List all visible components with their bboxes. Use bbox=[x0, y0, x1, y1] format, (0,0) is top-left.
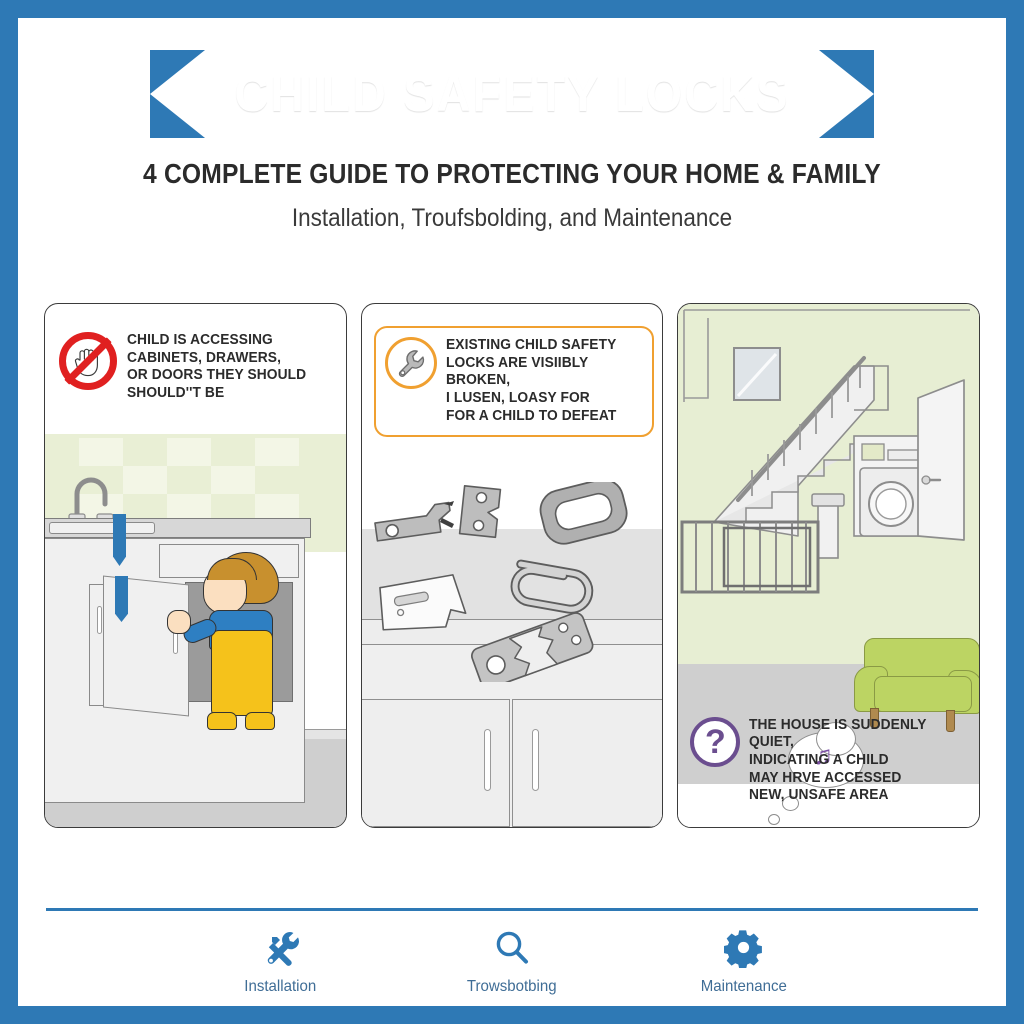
pointer-ribbon-upper bbox=[113, 514, 126, 566]
door-handle-left bbox=[484, 729, 491, 791]
footer-label: Trowsbotbing bbox=[467, 978, 557, 996]
child-overalls bbox=[211, 630, 273, 716]
panel-quiet-house: ♫ ? THE HOUSE IS SUDDENLY QUIET, INDICAT… bbox=[677, 303, 980, 828]
panel-3-callout-text: THE HOUSE IS SUDDENLY QUIET, INDICATING … bbox=[749, 717, 951, 805]
child-shoe-right bbox=[245, 712, 275, 730]
callout-line: NEW, UNSAFE AREA bbox=[749, 787, 951, 805]
question-mark-icon: ? bbox=[690, 717, 740, 767]
tagline: Installation, Troufsbolding, and Mainten… bbox=[67, 204, 956, 233]
child-figure bbox=[189, 552, 305, 742]
door-handle bbox=[97, 606, 102, 634]
cabinet-doors bbox=[362, 699, 663, 827]
kitchen-cabinet-child-scene bbox=[45, 434, 346, 827]
callout-line: OR DOORS THEY SHOULD bbox=[127, 367, 306, 385]
page-title: CHILD SAFETY LOCKS bbox=[175, 50, 848, 138]
panel-child-accessing-cabinets: CHILD IS ACCESSING CABINETS, DRAWERS, OR… bbox=[44, 303, 347, 828]
footer-item-maintenance[interactable]: Maintenance bbox=[674, 928, 814, 996]
magnifier-icon bbox=[492, 928, 532, 968]
broken-lock-parts-group bbox=[366, 482, 663, 682]
footer-divider bbox=[46, 908, 978, 911]
subtitle: 4 COMPLETE GUIDE TO PROTECTING YOUR HOME… bbox=[77, 158, 946, 190]
footer-item-installation[interactable]: Installation bbox=[210, 928, 350, 996]
callout-line: LOCKS ARE VISIIBLY BROKEN, bbox=[446, 355, 632, 390]
child-hand bbox=[167, 610, 191, 634]
footer-label: Installation bbox=[244, 978, 316, 996]
panel-1-callout-text: CHILD IS ACCESSING CABINETS, DRAWERS, OR… bbox=[127, 332, 306, 403]
gear-icon bbox=[724, 928, 764, 968]
panel-3-callout: ? THE HOUSE IS SUDDENLY QUIET, INDICATIN… bbox=[690, 717, 962, 805]
callout-line: INDICATING A CHILD bbox=[749, 752, 951, 770]
no-entry-hand-icon bbox=[59, 332, 117, 390]
child-shoe-left bbox=[207, 712, 237, 730]
infographic-poster: CHILD SAFETY LOCKS 4 COMPLETE GUIDE TO P… bbox=[0, 0, 1024, 1024]
footer-nav: Installation Trowsbotbing Maintenance bbox=[18, 928, 1006, 996]
panel-row: CHILD IS ACCESSING CABINETS, DRAWERS, OR… bbox=[44, 303, 980, 828]
callout-line: I LUSEN, LOASY FOR bbox=[446, 390, 632, 408]
hammer-wrench-icon bbox=[260, 928, 300, 968]
faucet-icon bbox=[67, 470, 129, 520]
footer-item-troubleshooting[interactable]: Trowsbotbing bbox=[442, 928, 582, 996]
panel-2-callout-text: EXISTING CHILD SAFETY LOCKS ARE VISIIBLY… bbox=[446, 337, 632, 425]
poster-canvas: CHILD SAFETY LOCKS 4 COMPLETE GUIDE TO P… bbox=[18, 18, 1006, 1006]
callout-line: THE HOUSE IS SUDDENLY QUIET, bbox=[749, 717, 951, 752]
panel-broken-locks: EXISTING CHILD SAFETY LOCKS ARE VISIIBLY… bbox=[361, 303, 664, 828]
door-handle-right bbox=[532, 729, 539, 791]
panel-1-callout: CHILD IS ACCESSING CABINETS, DRAWERS, OR… bbox=[59, 332, 329, 403]
sofa-seat bbox=[874, 676, 972, 712]
callout-line: FOR A CHILD TO DEFEAT bbox=[446, 408, 632, 426]
sink-basin bbox=[49, 522, 155, 534]
callout-line: MAY HRVE ACCESSED bbox=[749, 770, 951, 788]
pointer-ribbon-lower bbox=[115, 576, 128, 622]
callout-line: EXISTING CHILD SAFETY bbox=[446, 337, 632, 355]
callout-line: CHILD IS ACCESSING bbox=[127, 332, 306, 350]
title-ribbon: CHILD SAFETY LOCKS bbox=[150, 50, 874, 138]
footer-label: Maintenance bbox=[701, 978, 787, 996]
wrench-icon bbox=[385, 337, 437, 389]
panel-2-callout: EXISTING CHILD SAFETY LOCKS ARE VISIIBLY… bbox=[374, 326, 654, 437]
callout-line: CABINETS, DRAWERS, bbox=[127, 350, 306, 368]
callout-line: SHOULD''T BE bbox=[127, 385, 306, 403]
